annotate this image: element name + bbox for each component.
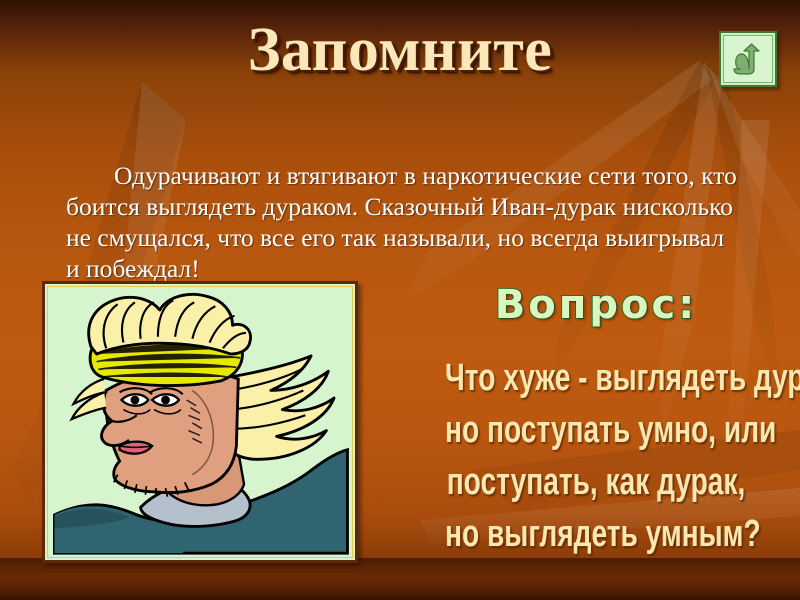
question-line: Что хуже - выглядеть дураком, (445, 352, 747, 404)
illustration-frame (42, 281, 358, 563)
presentation-slide: Запомните Одурачивают и втягивают в нарк… (0, 0, 800, 600)
bottom-band (0, 558, 800, 600)
question-line: но выглядеть умным? (445, 508, 747, 560)
question-heading: Вопрос: (400, 282, 792, 328)
question-line: поступать, как дурак, (445, 456, 747, 508)
illustration-inner-rule (47, 286, 353, 558)
ivan-the-fool-cartoon (48, 287, 352, 557)
question-body: Что хуже - выглядеть дураком, но поступа… (445, 352, 747, 560)
question-line: но поступать умно, или (445, 404, 747, 456)
page-title: Запомните (0, 18, 800, 83)
body-paragraph: Одурачивают и втягивают в наркотические … (66, 160, 738, 284)
u-turn-arrow-icon (723, 35, 773, 83)
return-button[interactable] (719, 31, 777, 87)
